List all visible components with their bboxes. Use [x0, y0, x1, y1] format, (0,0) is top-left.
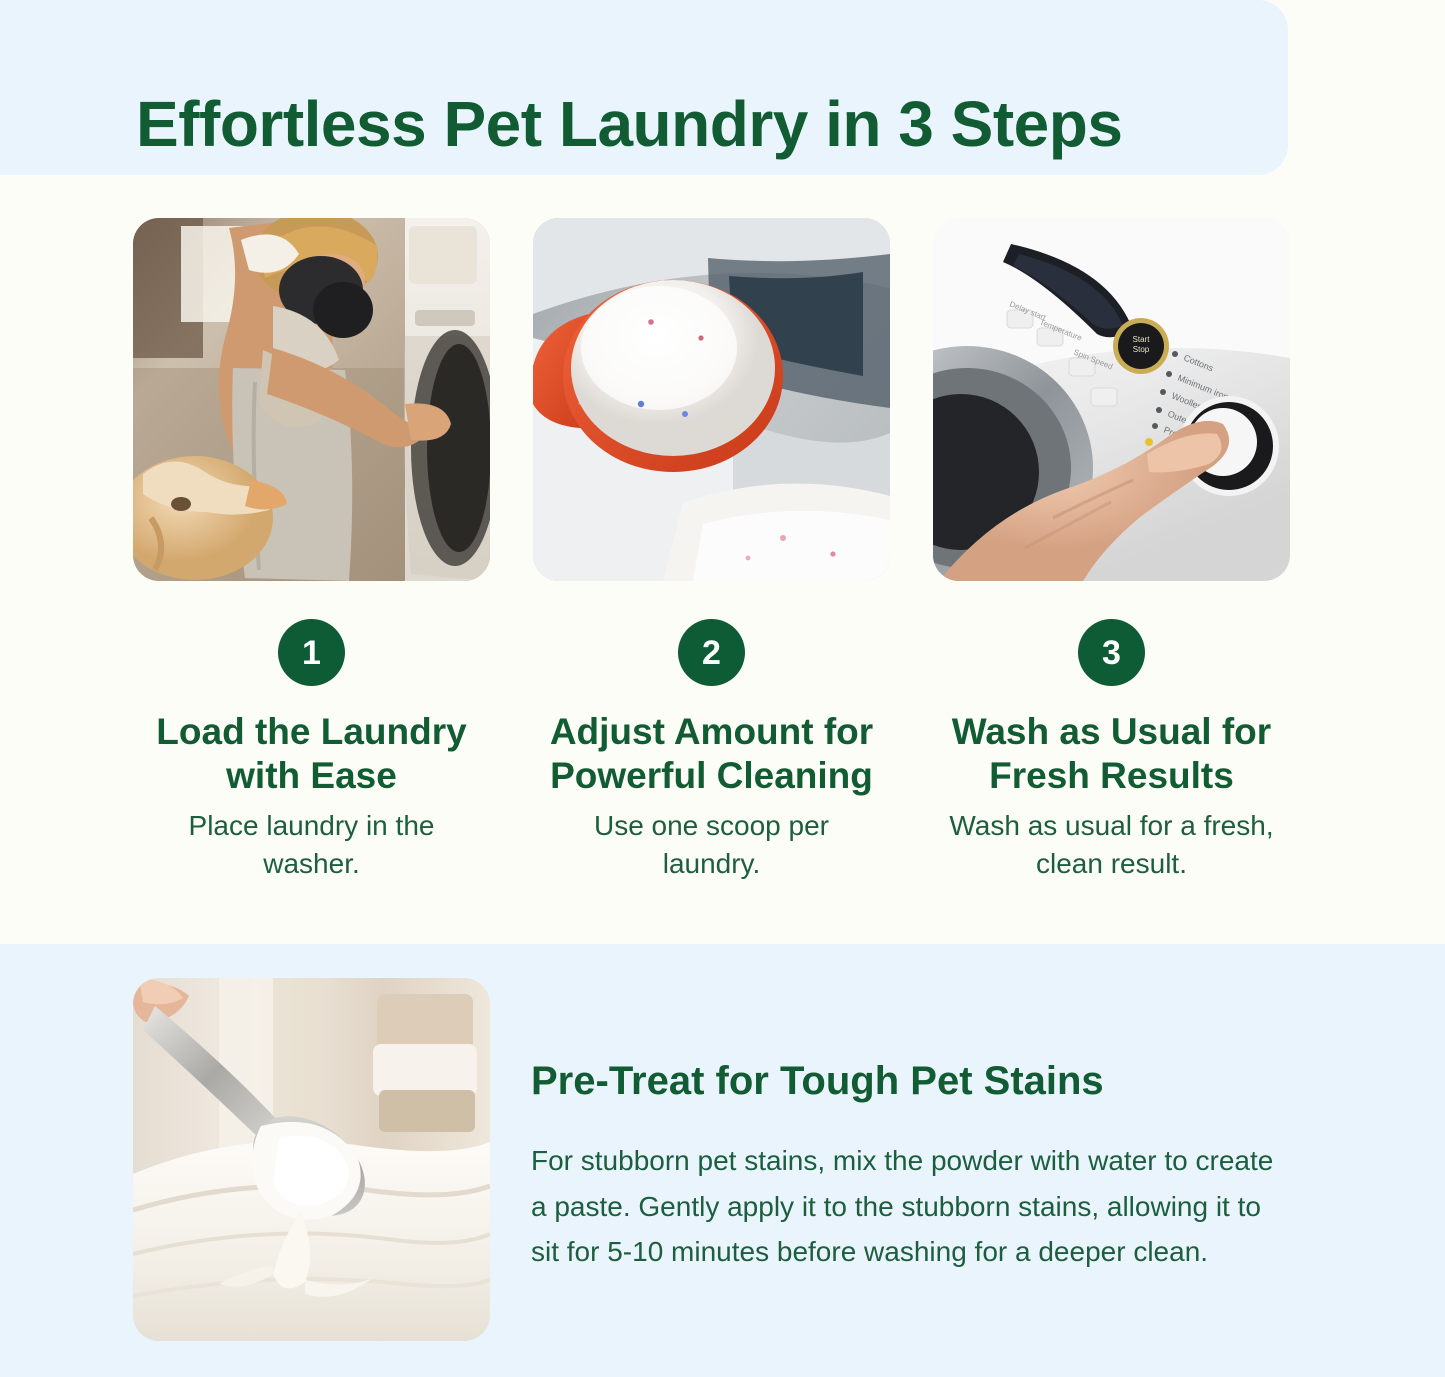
- pretreat-section: Pre-Treat for Tough Pet Stains For stubb…: [0, 944, 1445, 1377]
- step-2-number-badge: 2: [678, 619, 745, 686]
- detergent-scoop-powder-image: [533, 218, 890, 581]
- svg-text:Start: Start: [1133, 335, 1151, 344]
- spoon-of-paste-on-towel-image: [133, 978, 490, 1341]
- step-1-heading: Load the Laundry with Ease: [139, 710, 484, 797]
- step-2-description: Use one scoop per laundry.: [547, 807, 877, 883]
- pretreat-photo: [133, 978, 490, 1341]
- steps-row: 1 Load the Laundry with Ease Place laund…: [133, 218, 1290, 883]
- pretreat-inner: Pre-Treat for Tough Pet Stains For stubb…: [133, 978, 1291, 1341]
- step-3-heading: Wash as Usual for Fresh Results: [939, 710, 1284, 797]
- pretreat-text-block: Pre-Treat for Tough Pet Stains For stubb…: [531, 978, 1291, 1302]
- step-3-photo: Start Stop Delay start Temperature Spin …: [933, 218, 1290, 581]
- header-band: Effortless Pet Laundry in 3 Steps: [0, 0, 1288, 175]
- step-card-3: Start Stop Delay start Temperature Spin …: [933, 218, 1290, 883]
- page-title: Effortless Pet Laundry in 3 Steps: [136, 87, 1122, 161]
- pretreat-heading: Pre-Treat for Tough Pet Stains: [531, 1057, 1291, 1105]
- pretreat-body: For stubborn pet stains, mix the powder …: [531, 1138, 1291, 1274]
- step-2-heading: Adjust Amount for Powerful Cleaning: [539, 710, 884, 797]
- steps-section: 1 Load the Laundry with Ease Place laund…: [0, 175, 1445, 944]
- step-card-1: 1 Load the Laundry with Ease Place laund…: [133, 218, 490, 883]
- step-1-description: Place laundry in the washer.: [147, 807, 477, 883]
- step-1-number-badge: 1: [278, 619, 345, 686]
- step-3-number-badge: 3: [1078, 619, 1145, 686]
- child-loading-washer-with-dog-image: [133, 218, 490, 581]
- step-3-description: Wash as usual for a fresh, clean result.: [947, 807, 1277, 883]
- svg-text:Stop: Stop: [1133, 345, 1150, 354]
- step-2-photo: [533, 218, 890, 581]
- step-1-photo: [133, 218, 490, 581]
- hand-turning-washer-dial-image: Start Stop Delay start Temperature Spin …: [933, 218, 1290, 581]
- step-card-2: 2 Adjust Amount for Powerful Cleaning Us…: [533, 218, 890, 883]
